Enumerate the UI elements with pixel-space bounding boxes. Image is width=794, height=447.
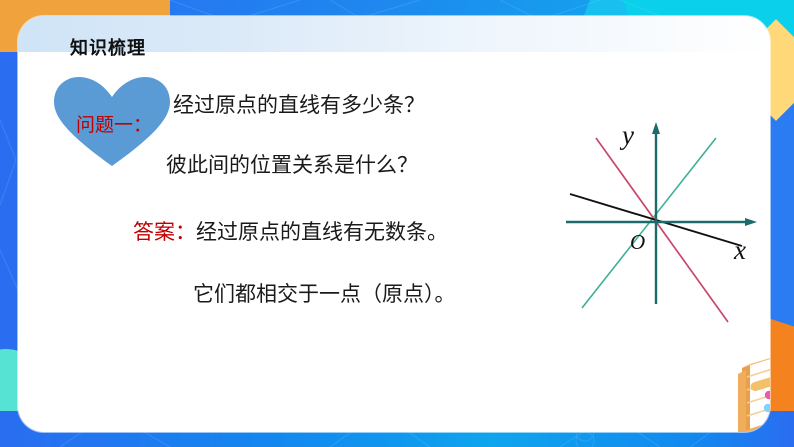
x-axis-label: x [733, 235, 746, 265]
x-axis-arrow [745, 218, 757, 226]
y-axis-label: y [619, 120, 634, 150]
coordinate-axes-figure: y x O [538, 94, 768, 330]
answer-line-1: 答案：经过原点的直线有无数条。 [133, 216, 448, 246]
answer-line-2: 它们都相交于一点（原点）。 [193, 278, 456, 308]
crimson-line [596, 138, 728, 322]
origin-label: O [630, 230, 645, 254]
abacus-icon [732, 346, 770, 432]
answer-label: 答案： [133, 220, 196, 244]
y-axis-arrow [652, 122, 660, 134]
question-line-1: 经过原点的直线有多少条？ [173, 89, 425, 119]
slide-root: 知识梳理 问题一： 经过原点的直线有多少条？ 彼此间的位置关系是什么？ 答案：经… [0, 0, 794, 447]
question-line-2: 彼此间的位置关系是什么？ [166, 149, 418, 179]
content-card: 知识梳理 问题一： 经过原点的直线有多少条？ 彼此间的位置关系是什么？ 答案：经… [18, 16, 770, 432]
answer-text-1: 经过原点的直线有无数条。 [196, 220, 448, 244]
